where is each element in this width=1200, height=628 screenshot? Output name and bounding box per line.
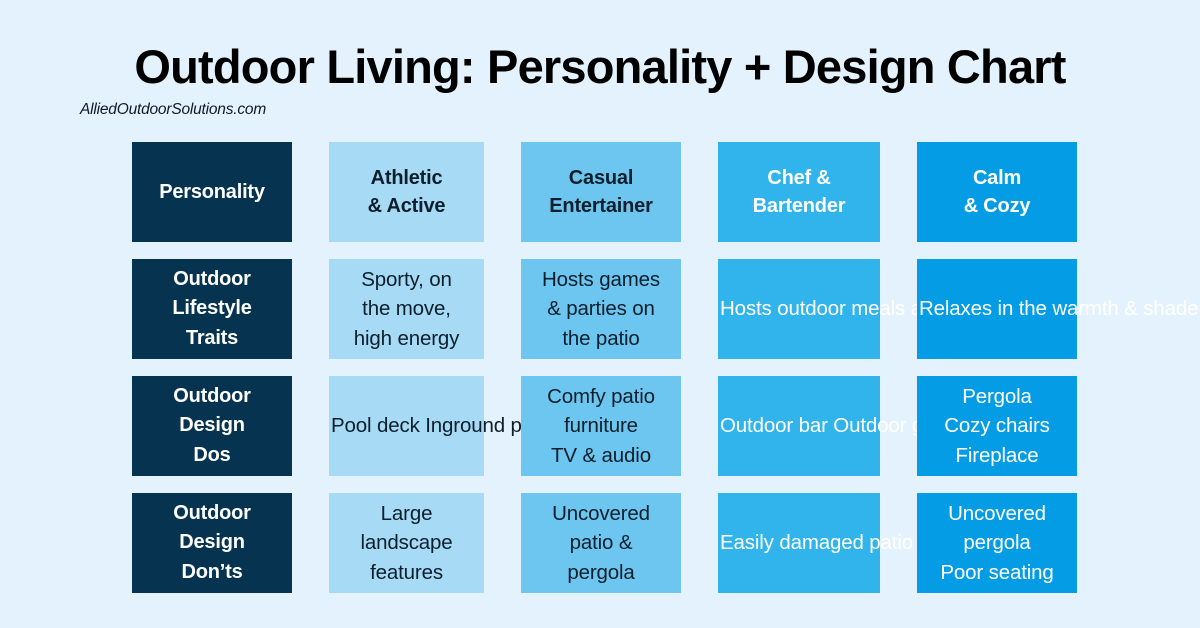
column-header-label: Casual Entertainer: [523, 164, 679, 221]
cell-value: Sporty, on the move, high energy: [331, 265, 482, 354]
title-block: Outdoor Living: Personality + Design Cha…: [0, 42, 1200, 93]
infographic-page: Outdoor Living: Personality + Design Cha…: [0, 0, 1200, 628]
column-header-label: Chef & Bartender: [720, 164, 878, 221]
row-header-label: Outdoor Lifestyle Traits: [134, 265, 290, 353]
cell-value: Large landscape features: [331, 499, 482, 588]
column-header-label: Calm & Cozy: [919, 164, 1075, 221]
table-cell: Comfy patio furniture TV & audio: [521, 376, 681, 476]
table-cell: Pool deck Inground pool Yard space: [329, 376, 484, 476]
cell-value: Pool deck Inground pool Yard space: [331, 411, 482, 441]
personality-design-table: Personality Athletic & Active Casual Ent…: [132, 142, 1080, 593]
cell-value: Hosts games & parties on the patio: [523, 265, 679, 354]
column-header-chef-bartender: Chef & Bartender: [718, 142, 880, 242]
cell-value: Uncovered pergola Poor seating: [919, 499, 1075, 588]
column-header-calm-cozy: Calm & Cozy: [917, 142, 1077, 242]
column-header-casual-entertainer: Casual Entertainer: [521, 142, 681, 242]
cell-value: Pergola Cozy chairs Fireplace: [919, 382, 1075, 471]
cell-value: Easily damaged patio material: [720, 528, 878, 558]
cell-value: Uncovered patio & pergola: [523, 499, 679, 588]
cell-value: Comfy patio furniture TV & audio: [523, 382, 679, 471]
table-cell: Sporty, on the move, high energy: [329, 259, 484, 359]
row-header-design-dos: Outdoor Design Dos: [132, 376, 292, 476]
row-header-design-donts: Outdoor Design Don’ts: [132, 493, 292, 593]
cell-value: Relaxes in the warmth & shade: [919, 294, 1075, 324]
table-cell: Easily damaged patio material: [718, 493, 880, 593]
column-header-athletic-active: Athletic & Active: [329, 142, 484, 242]
table-cell: Outdoor bar Outdoor grill Ample seating: [718, 376, 880, 476]
source-attribution: AlliedOutdoorSolutions.com: [80, 101, 266, 119]
cell-value: Outdoor bar Outdoor grill Ample seating: [720, 411, 878, 441]
table-cell: Uncovered patio & pergola: [521, 493, 681, 593]
row-header-label: Personality: [134, 178, 290, 206]
table-corner-header: Personality: [132, 142, 292, 242]
column-header-label: Athletic & Active: [331, 164, 482, 221]
row-header-label: Outdoor Design Dos: [134, 382, 290, 470]
row-header-label: Outdoor Design Don’ts: [134, 499, 290, 587]
page-title: Outdoor Living: Personality + Design Cha…: [0, 42, 1200, 93]
table-cell: Large landscape features: [329, 493, 484, 593]
table-cell: Hosts outdoor meals and drinks: [718, 259, 880, 359]
table-cell: Uncovered pergola Poor seating: [917, 493, 1077, 593]
table-cell: Pergola Cozy chairs Fireplace: [917, 376, 1077, 476]
table-cell: Hosts games & parties on the patio: [521, 259, 681, 359]
cell-value: Hosts outdoor meals and drinks: [720, 294, 878, 324]
table-cell: Relaxes in the warmth & shade: [917, 259, 1077, 359]
row-header-lifestyle-traits: Outdoor Lifestyle Traits: [132, 259, 292, 359]
